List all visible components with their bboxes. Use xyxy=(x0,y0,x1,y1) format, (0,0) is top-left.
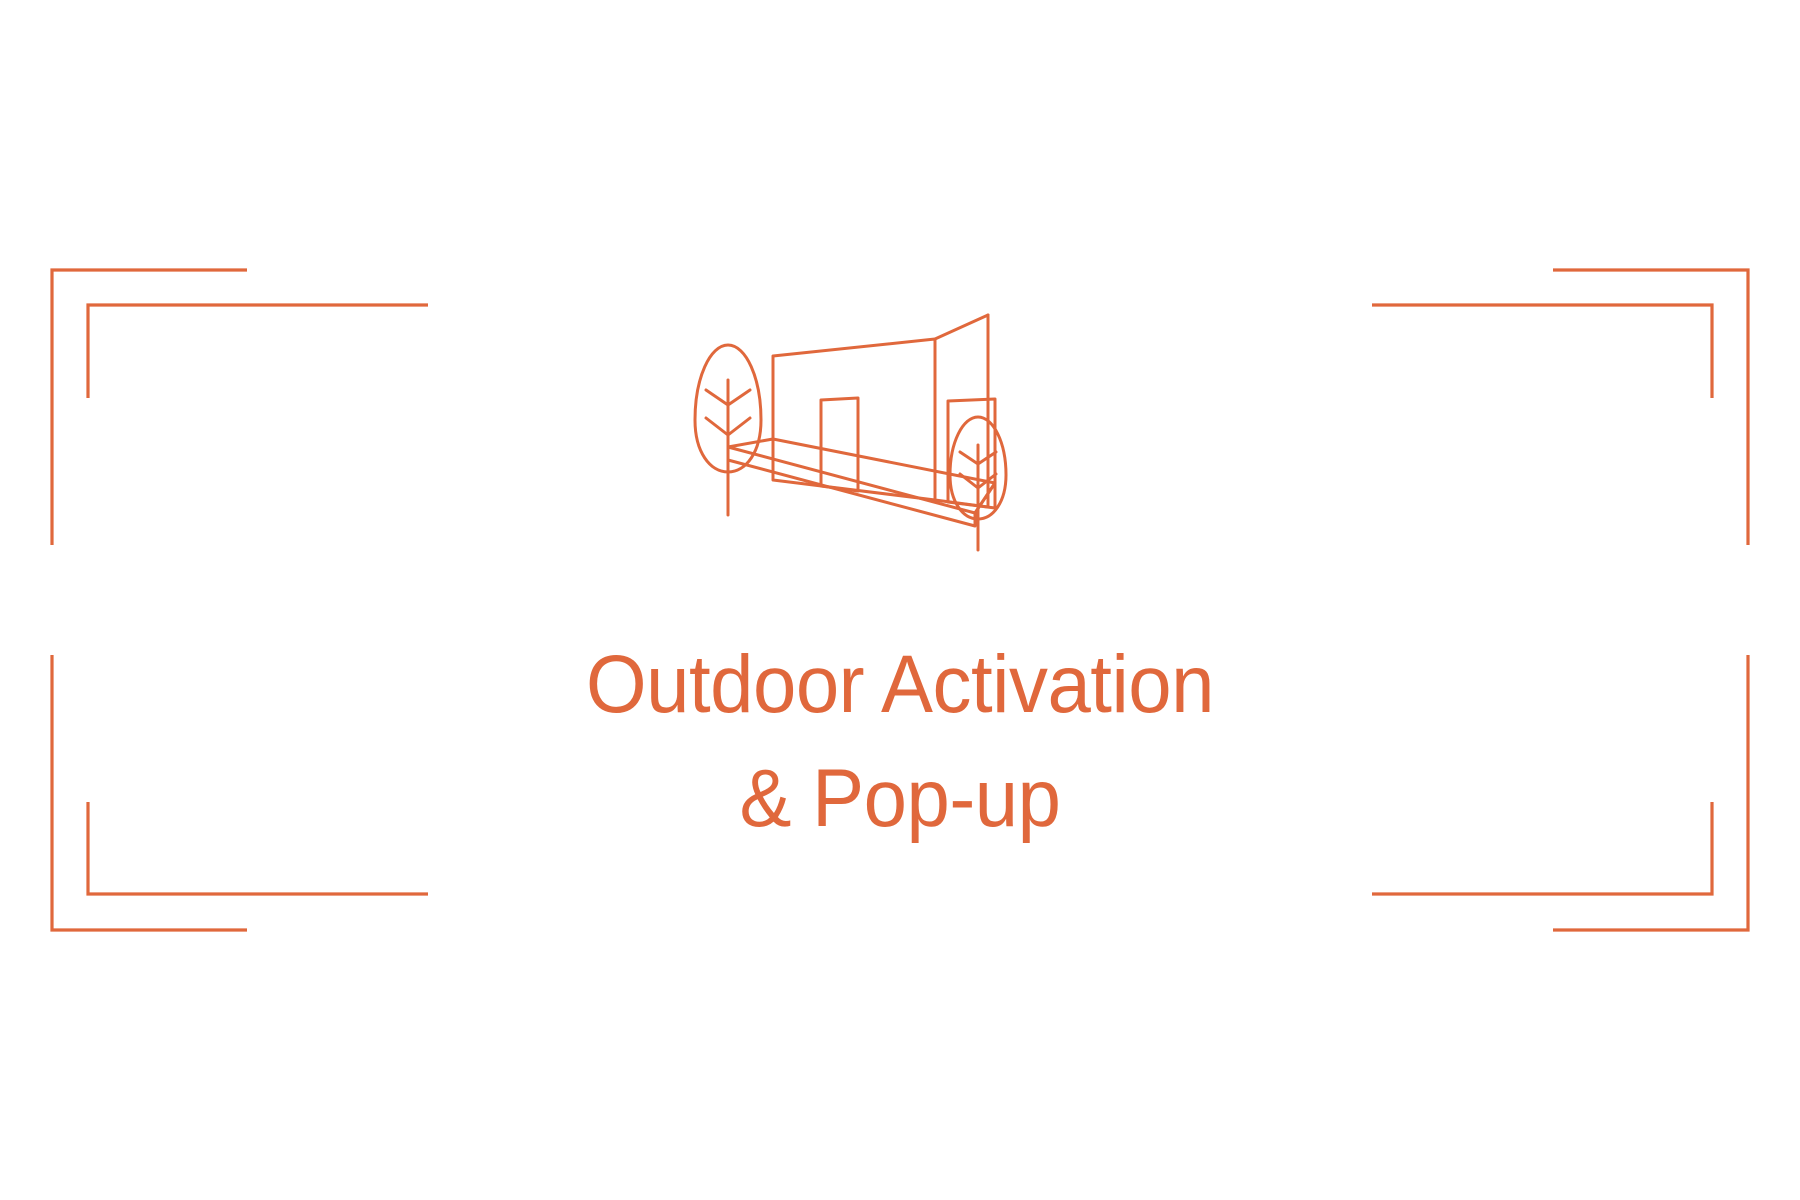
tree-left-branch-1 xyxy=(706,390,728,405)
deck-platform xyxy=(728,439,995,526)
tree-left-branch-3 xyxy=(706,418,728,435)
corner-bracket-top-right xyxy=(1372,270,1748,545)
deck-front-edge xyxy=(728,447,975,526)
bracket-outer-top-right xyxy=(1553,270,1748,545)
bracket-outer-top-left xyxy=(52,270,247,545)
outdoor-pavilion-line-art xyxy=(650,300,1150,610)
tree-left-branch-4 xyxy=(728,418,750,435)
bracket-inner-top-left xyxy=(88,305,428,398)
tree-right-icon xyxy=(950,417,1006,550)
slide-card: Outdoor Activation & Pop-up xyxy=(0,0,1800,1200)
page-title-line-1: Outdoor Activation xyxy=(45,628,1755,742)
wall-panel-left xyxy=(773,339,935,500)
tree-right-branch-3 xyxy=(960,474,978,488)
tree-left-icon xyxy=(695,345,761,515)
tree-right-branch-1 xyxy=(960,452,978,464)
bracket-inner-top-right xyxy=(1372,305,1712,398)
page-title-line-2: & Pop-up xyxy=(45,742,1755,856)
page-title: Outdoor Activation & Pop-up xyxy=(0,628,1800,856)
tree-left-branch-2 xyxy=(728,390,750,405)
wall-panel-right xyxy=(935,315,988,507)
pavilion-wall xyxy=(773,315,988,507)
corner-bracket-top-left xyxy=(52,270,428,545)
